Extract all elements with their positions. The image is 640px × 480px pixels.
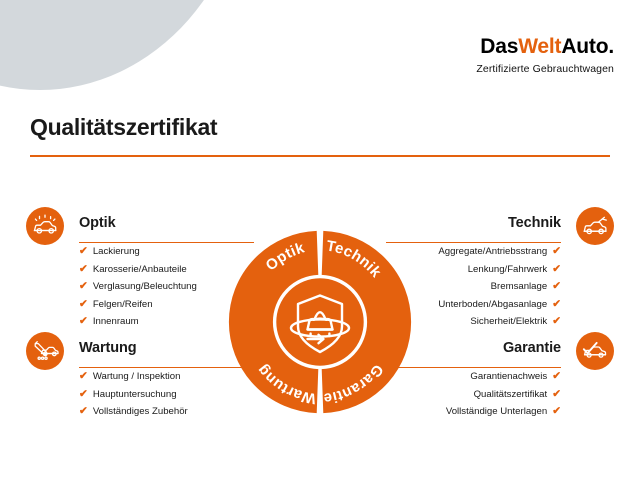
list-item-label: Qualitätszertifikat: [474, 389, 548, 400]
section-garantie-list: Garantienachweis✔ Qualitätszertifikat✔ V…: [386, 371, 614, 417]
section-wartung-title: Wartung: [79, 340, 137, 356]
list-item-label: Verglasung/Beleuchtung: [93, 281, 197, 292]
check-icon: ✔: [79, 245, 88, 257]
check-icon: ✔: [79, 263, 88, 275]
list-item-label: Sicherheit/Elektrik: [470, 316, 547, 327]
car-check-icon: [576, 332, 614, 370]
brand-logo-wordmark: DasWeltAuto.: [476, 36, 614, 57]
check-icon: ✔: [552, 280, 561, 292]
list-item-label: Vollständige Unterlagen: [446, 406, 547, 417]
logo-das: Das: [480, 35, 518, 58]
section-wartung-list: ✔Wartung / Inspektion ✔Hauptuntersuchung…: [26, 371, 254, 417]
check-icon: ✔: [552, 315, 561, 327]
list-item-label: Lackierung: [93, 246, 140, 257]
list-item-label: Felgen/Reifen: [93, 299, 153, 310]
section-technik-title: Technik: [508, 215, 561, 231]
check-icon: ✔: [552, 263, 561, 275]
car-wrench-icon: [26, 332, 64, 370]
header-decorative-shape: [0, 0, 250, 90]
section-optik-list: ✔Lackierung ✔Karosserie/Anbauteile ✔Verg…: [26, 246, 254, 327]
check-icon: ✔: [552, 405, 561, 417]
section-technik-list: Aggregate/Antriebsstrang✔ Lenkung/Fahrwe…: [386, 246, 614, 327]
logo-welt: Welt: [518, 35, 561, 58]
list-item-label: Karosserie/Anbauteile: [93, 264, 187, 275]
check-icon: ✔: [79, 298, 88, 310]
car-open-hood-icon: [576, 207, 614, 245]
list-item-label: Bremsanlage: [491, 281, 548, 292]
section-technik-header: Technik: [386, 206, 614, 246]
car-shine-icon: [26, 207, 64, 245]
check-icon: ✔: [552, 245, 561, 257]
check-icon: ✔: [79, 370, 88, 382]
list-item-label: Unterboden/Abgasanlage: [438, 299, 547, 310]
section-optik: Optik ✔Lackierung ✔Karosserie/Anbauteile…: [26, 206, 254, 334]
list-item-label: Garantienachweis: [470, 371, 547, 382]
center-wheel-diagram: Optik Technik Garantie Wartung: [224, 226, 416, 418]
page-title: Qualitätszertifikat: [30, 114, 217, 141]
check-icon: ✔: [552, 298, 561, 310]
section-garantie-title: Garantie: [503, 340, 561, 356]
check-icon: ✔: [79, 405, 88, 417]
logo-auto: Auto.: [561, 35, 614, 58]
list-item-label: Vollständiges Zubehör: [93, 406, 188, 417]
page-title-divider: [30, 155, 610, 157]
list-item-label: Lenkung/Fahrwerk: [468, 264, 547, 275]
section-wartung-header: Wartung: [26, 331, 254, 371]
section-garantie-header: Garantie: [386, 331, 614, 371]
list-item-label: Wartung / Inspektion: [93, 371, 181, 382]
brand-logo-tagline: Zertifizierte Gebrauchtwagen: [476, 64, 614, 75]
check-icon: ✔: [79, 388, 88, 400]
check-icon: ✔: [552, 370, 561, 382]
list-item-label: Hauptuntersuchung: [93, 389, 177, 400]
list-item-label: Aggregate/Antriebsstrang: [438, 246, 547, 257]
section-optik-title: Optik: [79, 215, 116, 231]
check-icon: ✔: [79, 315, 88, 327]
section-wartung: Wartung ✔Wartung / Inspektion ✔Hauptunte…: [26, 331, 254, 424]
check-icon: ✔: [552, 388, 561, 400]
section-garantie: Garantie Garantienachweis✔ Qualitätszert…: [386, 331, 614, 424]
list-item-label: Innenraum: [93, 316, 139, 327]
brand-logo: DasWeltAuto. Zertifizierte Gebrauchtwage…: [476, 36, 614, 75]
section-technik: Technik Aggregate/Antriebsstrang✔ Lenkun…: [386, 206, 614, 334]
check-icon: ✔: [79, 280, 88, 292]
section-optik-header: Optik: [26, 206, 254, 246]
